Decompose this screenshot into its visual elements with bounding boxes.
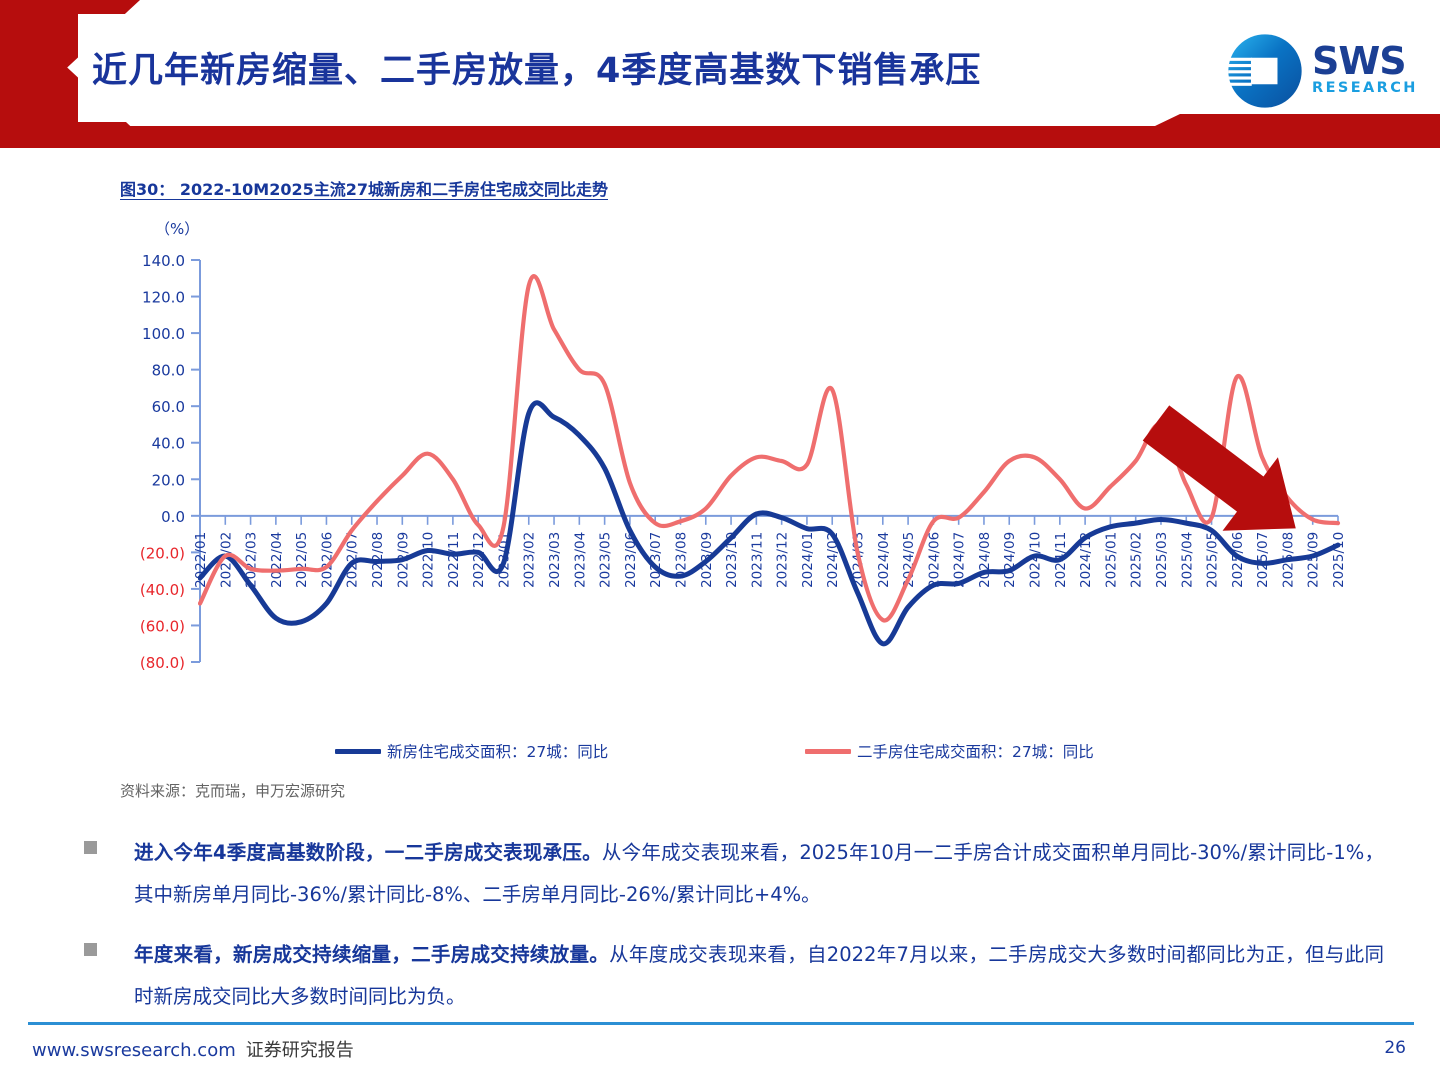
logo-subtitle: RESEARCH bbox=[1312, 80, 1418, 96]
trend-line-chart: 140.0120.0100.080.060.040.020.00.0(20.0)… bbox=[110, 218, 1350, 758]
bullet-list: 进入今年4季度高基数阶段，一二手房成交表现承压。从今年成交表现来看，2025年1… bbox=[84, 832, 1384, 1036]
sws-logo: SWS RESEARCH bbox=[1226, 30, 1426, 122]
footer-label: 证券研究报告 bbox=[246, 1040, 354, 1061]
y-axis-tick-label: 40.0 bbox=[152, 435, 185, 453]
x-axis-tick-label: 2024/09 bbox=[1002, 532, 1018, 588]
legend-swatch-new-home bbox=[335, 749, 381, 754]
footer-website[interactable]: www.swsresearch.com bbox=[32, 1040, 236, 1061]
x-axis-tick-label: 2025/01 bbox=[1103, 532, 1119, 588]
x-axis-tick-label: 2025/10 bbox=[1331, 532, 1347, 588]
x-axis-tick-label: 2022/11 bbox=[446, 532, 462, 588]
bullet-text: 进入今年4季度高基数阶段，一二手房成交表现承压。从今年成交表现来看，2025年1… bbox=[134, 832, 1384, 916]
bullet-text: 年度来看，新房成交持续缩量，二手房成交持续放量。从年度成交表现来看，自2022年… bbox=[134, 934, 1384, 1018]
y-axis-tick-label: 100.0 bbox=[142, 325, 185, 343]
y-axis-tick-label: (40.0) bbox=[140, 581, 185, 599]
x-axis-tick-label: 2023/05 bbox=[598, 532, 614, 588]
bullet-item: 进入今年4季度高基数阶段，一二手房成交表现承压。从今年成交表现来看，2025年1… bbox=[84, 832, 1384, 916]
x-axis-tick-label: 2023/08 bbox=[673, 532, 689, 588]
y-axis-tick-label: 20.0 bbox=[152, 471, 185, 489]
x-axis-tick-label: 2025/07 bbox=[1255, 532, 1271, 588]
x-axis-tick-label: 2022/05 bbox=[294, 532, 310, 588]
y-axis-tick-label: (60.0) bbox=[140, 617, 185, 635]
footer-divider bbox=[28, 1022, 1414, 1025]
legend-label-new-home: 新房住宅成交面积：27城：同比 bbox=[387, 740, 608, 762]
x-axis-tick-label: 2023/12 bbox=[775, 532, 791, 588]
y-axis-tick-label: 140.0 bbox=[142, 252, 185, 270]
bullet-square-icon bbox=[84, 943, 97, 956]
legend-item-new-home: 新房住宅成交面积：27城：同比 bbox=[335, 740, 608, 762]
x-axis-tick-label: 2025/04 bbox=[1179, 532, 1195, 588]
chart-legend: 新房住宅成交面积：27城：同比 二手房住宅成交面积：27城：同比 bbox=[110, 738, 1350, 770]
x-axis-tick-label: 2023/04 bbox=[572, 532, 588, 588]
page-number: 26 bbox=[1384, 1038, 1406, 1058]
y-axis-tick-label: 0.0 bbox=[161, 508, 185, 526]
y-axis-tick-label: 80.0 bbox=[152, 362, 185, 380]
y-axis-tick-label: (20.0) bbox=[140, 544, 185, 562]
x-axis-tick-label: 2023/11 bbox=[749, 532, 765, 588]
legend-item-second-hand: 二手房住宅成交面积：27城：同比 bbox=[805, 740, 1094, 762]
x-axis-tick-label: 2022/04 bbox=[269, 532, 285, 588]
logo-wordmark: SWS bbox=[1312, 42, 1418, 80]
x-axis-tick-label: 2025/02 bbox=[1129, 532, 1145, 588]
legend-label-second-hand: 二手房住宅成交面积：27城：同比 bbox=[857, 740, 1094, 762]
y-axis-tick-label: (80.0) bbox=[140, 654, 185, 672]
figure-title: 图30： 2022-10M2025主流27城新房和二手房住宅成交同比走势 bbox=[120, 176, 608, 200]
x-axis-tick-label: 2024/04 bbox=[876, 532, 892, 588]
legend-swatch-second-hand bbox=[805, 749, 851, 754]
x-axis-tick-label: 2024/06 bbox=[926, 532, 942, 588]
page-title: 近几年新房缩量、二手房放量，4季度高基数下销售承压 bbox=[92, 42, 981, 93]
slide-page: 近几年新房缩量、二手房放量，4季度高基数下销售承压 bbox=[0, 0, 1440, 1080]
x-axis-tick-label: 2024/08 bbox=[977, 532, 993, 588]
sws-logo-mark-icon bbox=[1226, 32, 1304, 110]
bullet-bold-lead: 进入今年4季度高基数阶段，一二手房成交表现承压。 bbox=[134, 841, 602, 864]
x-axis-tick-label: 2025/09 bbox=[1306, 532, 1322, 588]
figure-source: 资料来源：克而瑞，申万宏源研究 bbox=[120, 780, 345, 801]
x-axis-tick-label: 2025/05 bbox=[1205, 532, 1221, 588]
x-axis-tick-label: 2023/03 bbox=[547, 532, 563, 588]
chart-container: （%） 140.0120.0100.080.060.040.020.00.0(2… bbox=[110, 218, 1350, 778]
bullet-bold-lead: 年度来看，新房成交持续缩量，二手房成交持续放量。 bbox=[134, 943, 609, 966]
x-axis-tick-label: 2022/10 bbox=[421, 532, 437, 588]
slide-header: 近几年新房缩量、二手房放量，4季度高基数下销售承压 bbox=[0, 0, 1440, 148]
x-axis-tick-label: 2025/03 bbox=[1154, 532, 1170, 588]
x-axis-tick-label: 2024/01 bbox=[800, 532, 816, 588]
bullet-square-icon bbox=[84, 841, 97, 854]
y-axis-tick-label: 60.0 bbox=[152, 398, 185, 416]
x-axis-tick-label: 2023/02 bbox=[522, 532, 538, 588]
bullet-item: 年度来看，新房成交持续缩量，二手房成交持续放量。从年度成交表现来看，自2022年… bbox=[84, 934, 1384, 1018]
footer-info: www.swsresearch.com证券研究报告 bbox=[32, 1036, 354, 1062]
y-axis-tick-label: 120.0 bbox=[142, 289, 185, 307]
